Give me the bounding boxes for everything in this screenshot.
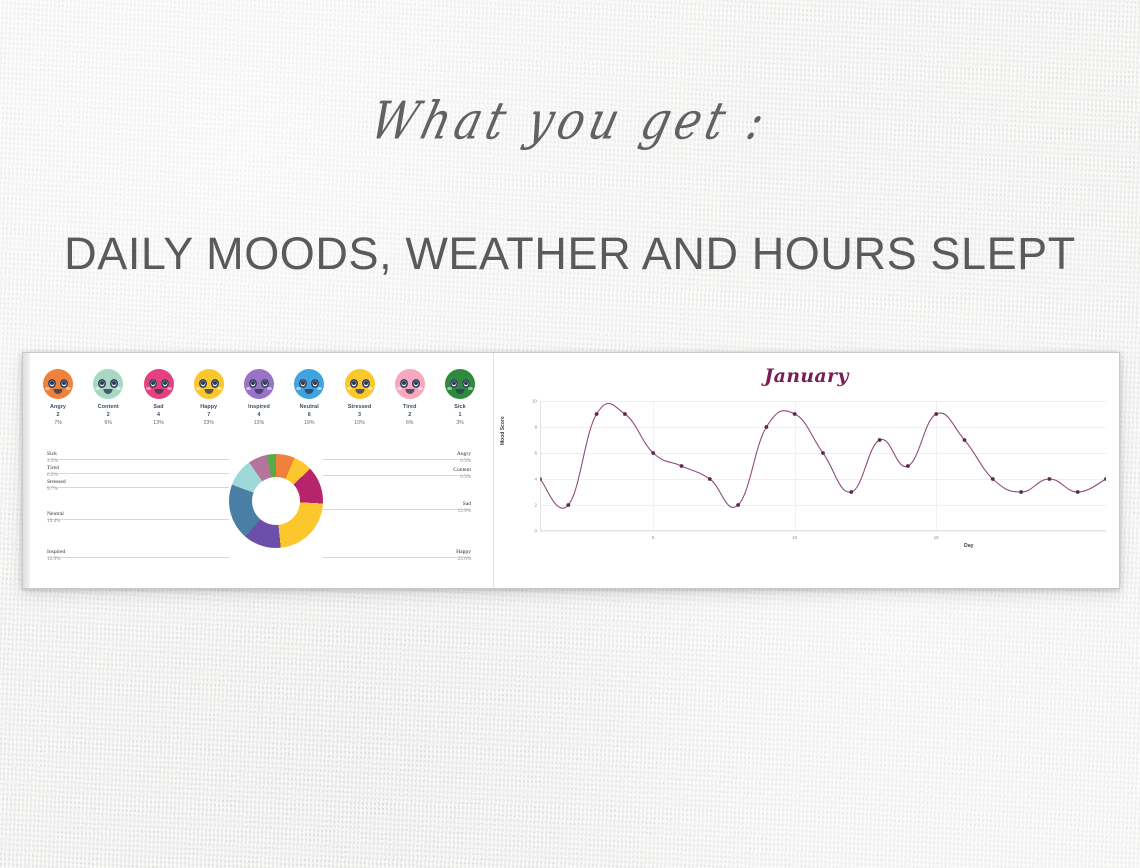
mood-count: 1 <box>437 411 483 419</box>
mood-count: 7 <box>186 411 232 419</box>
donut-leader-line <box>323 475 471 476</box>
y-axis-label: Mood Score <box>500 416 506 445</box>
mood-count: 6 <box>286 411 332 419</box>
sick-face-icon <box>445 369 475 399</box>
mood-percent: 6% <box>387 419 433 427</box>
mood-cell-content: Content26% <box>85 369 131 427</box>
donut-leader-line <box>323 459 471 460</box>
legend-percent: 6.5% <box>457 458 471 465</box>
y-axis-tick: 4 <box>534 477 537 482</box>
mood-cell-tired: Tired26% <box>387 369 433 427</box>
donut-legend-neutral: Neutral19.4% <box>47 511 64 525</box>
donut-legend-inspired: Inspired12.9% <box>47 549 65 563</box>
legend-percent: 6.5% <box>453 474 471 481</box>
donut-legend-stressed: Stressed9.7% <box>47 479 66 493</box>
spreadsheet-panel: Angry27%Content26%Sad413%Happy723%Inspir… <box>22 352 1120 589</box>
legend-percent: 9.7% <box>47 486 66 493</box>
legend-percent: 12.9% <box>47 556 65 563</box>
donut-legend-content: Content6.5% <box>453 467 471 481</box>
mood-cell-sick: Sick13% <box>437 369 483 427</box>
mood-cell-happy: Happy723% <box>186 369 232 427</box>
legend-label: Inspired <box>47 549 65 556</box>
mood-label: Tired <box>387 403 433 411</box>
mood-percent: 6% <box>85 419 131 427</box>
y-axis-tick: 0 <box>534 529 537 534</box>
legend-label: Neutral <box>47 511 64 518</box>
legend-label: Tired <box>47 465 59 472</box>
x-axis-label: Day <box>964 543 974 549</box>
donut-leader-line <box>47 459 229 460</box>
script-heading: What you get : <box>0 91 1140 151</box>
inspired-face-icon <box>244 369 274 399</box>
mood-donut-chart <box>229 454 323 548</box>
donut-legend-angry: Angry6.5% <box>457 451 471 465</box>
donut-center-hole <box>252 477 300 525</box>
donut-leader-line <box>323 509 471 510</box>
donut-legend-happy: Happy22.6% <box>456 549 471 563</box>
legend-label: Angry <box>457 451 471 458</box>
stressed-face-icon <box>345 369 375 399</box>
mood-cell-stressed: Stressed310% <box>337 369 383 427</box>
donut-leader-line <box>323 557 471 558</box>
content-face-icon <box>93 369 123 399</box>
mood-line-chart-section: January Mood Score 024681051015 Day <box>493 353 1119 588</box>
legend-percent: 3.2% <box>47 458 58 465</box>
mood-label: Sad <box>136 403 182 411</box>
donut-leader-line <box>47 557 229 558</box>
mood-percent: 13% <box>136 419 182 427</box>
mood-count: 2 <box>35 411 81 419</box>
tired-face-icon <box>395 369 425 399</box>
donut-legend-tired: Tired6.5% <box>47 465 59 479</box>
mood-count: 2 <box>85 411 131 419</box>
mood-cell-angry: Angry27% <box>35 369 81 427</box>
mood-tally-strip: Angry27%Content26%Sad413%Happy723%Inspir… <box>35 369 483 427</box>
mood-count: 3 <box>337 411 383 419</box>
mood-donut-section: Sick3.2%Tired6.5%Stressed9.7%Neutral19.4… <box>23 449 493 581</box>
y-gridline <box>540 531 1106 532</box>
legend-percent: 19.4% <box>47 518 64 525</box>
y-axis-tick: 2 <box>534 503 537 508</box>
mood-cell-inspired: Inspired413% <box>236 369 282 427</box>
mood-percent: 3% <box>437 419 483 427</box>
donut-leader-line <box>47 519 229 520</box>
mood-score-line <box>540 401 1106 531</box>
mood-label: Stressed <box>337 403 383 411</box>
legend-percent: 12.9% <box>458 508 471 515</box>
legend-label: Sick <box>47 451 58 458</box>
y-axis-tick: 8 <box>534 425 537 430</box>
legend-label: Happy <box>456 549 471 556</box>
happy-face-icon <box>194 369 224 399</box>
mood-label: Angry <box>35 403 81 411</box>
chart-title: January <box>494 365 1119 387</box>
legend-label: Stressed <box>47 479 66 486</box>
mood-percent: 10% <box>337 419 383 427</box>
mood-percent: 23% <box>186 419 232 427</box>
legend-percent: 6.5% <box>47 472 59 479</box>
page-title: DAILY MOODS, WEATHER AND HOURS SLEPT <box>0 228 1140 280</box>
x-axis-tick: 15 <box>934 535 939 540</box>
x-axis-tick: 5 <box>652 535 655 540</box>
mood-percent: 7% <box>35 419 81 427</box>
mood-cell-neutral: Neutral619% <box>286 369 332 427</box>
mood-label: Happy <box>186 403 232 411</box>
donut-leader-line <box>47 473 229 474</box>
sad-face-icon <box>144 369 174 399</box>
mood-label: Content <box>85 403 131 411</box>
line-chart-plot-area: 024681051015 <box>540 401 1106 531</box>
mood-summary-section: Angry27%Content26%Sad413%Happy723%Inspir… <box>23 353 493 588</box>
x-axis-tick: 10 <box>792 535 797 540</box>
mood-count: 4 <box>136 411 182 419</box>
mood-percent: 19% <box>286 419 332 427</box>
mood-count: 4 <box>236 411 282 419</box>
legend-label: Sad <box>458 501 471 508</box>
mood-percent: 13% <box>236 419 282 427</box>
mood-label: Sick <box>437 403 483 411</box>
y-axis-tick: 10 <box>532 399 537 404</box>
legend-label: Content <box>453 467 471 474</box>
neutral-face-icon <box>294 369 324 399</box>
donut-legend-sick: Sick3.2% <box>47 451 58 465</box>
donut-legend-sad: Sad12.9% <box>458 501 471 515</box>
mood-count: 2 <box>387 411 433 419</box>
y-axis-tick: 6 <box>534 451 537 456</box>
donut-leader-line <box>47 487 229 488</box>
angry-face-icon <box>43 369 73 399</box>
mood-cell-sad: Sad413% <box>136 369 182 427</box>
mood-label: Inspired <box>236 403 282 411</box>
mood-label: Neutral <box>286 403 332 411</box>
legend-percent: 22.6% <box>456 556 471 563</box>
